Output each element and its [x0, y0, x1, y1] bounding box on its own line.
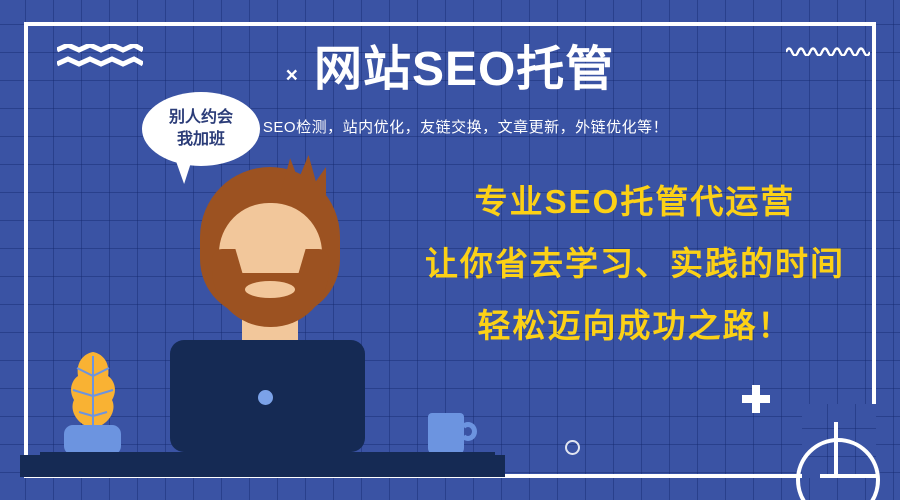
circle-outline-icon — [565, 440, 580, 455]
laptop-logo-dot — [258, 390, 273, 405]
person-mouth — [245, 281, 295, 298]
page-title: × 网站SEO托管 — [0, 44, 900, 97]
subtitle-text: 含：SEO检测，站内优化，友链交换，文章更新，外链优化等！ — [0, 116, 900, 137]
plant-pot — [64, 425, 121, 455]
speech-bubble-line-2: 我加班 — [177, 129, 225, 151]
potted-plant-icon — [60, 350, 126, 432]
desk-surface — [20, 455, 505, 477]
title-text: 网站SEO托管 — [314, 44, 614, 97]
title-bullet-icon: × — [286, 55, 298, 86]
slogan-line-1: 专业SEO托管代运营 — [395, 185, 875, 218]
slogan-line-3: 轻松迈向成功之路！ — [395, 309, 875, 342]
coffee-mug-handle — [459, 422, 477, 441]
speech-bubble-line-1: 别人约会 — [169, 107, 233, 129]
person-hair-tuft — [280, 155, 326, 195]
slogan-line-2: 让你省去学习、实践的时间 — [395, 247, 875, 280]
seo-hosting-banner: × 网站SEO托管 含：SEO检测，站内优化，友链交换，文章更新，外链优化等！ … — [0, 0, 900, 500]
slogan-block: 专业SEO托管代运营 让你省去学习、实践的时间 轻松迈向成功之路！ — [395, 185, 875, 342]
plus-icon — [742, 385, 770, 413]
